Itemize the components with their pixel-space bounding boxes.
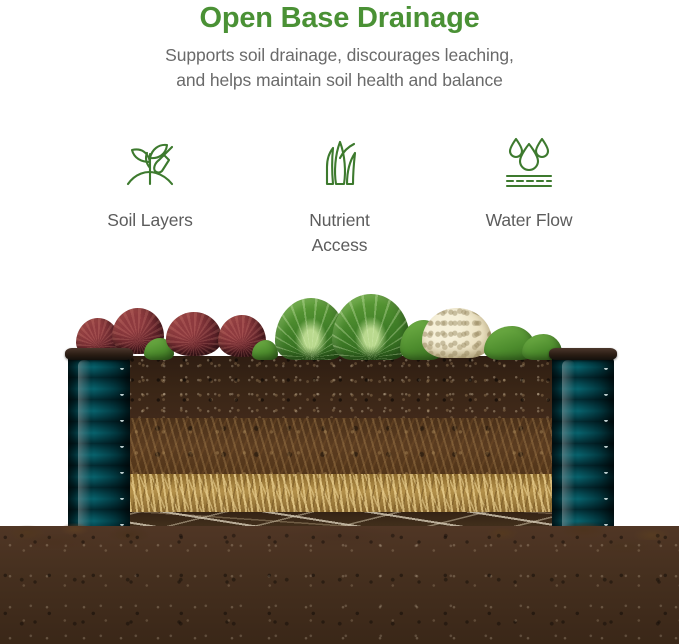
feature-soil-layers: Soil Layers xyxy=(60,128,240,258)
page-subtitle-line-2: and helps maintain soil health and balan… xyxy=(0,68,679,93)
feature-list: Soil Layers Nutrient Access xyxy=(60,128,619,258)
feature-water-flow: Water Flow xyxy=(439,128,619,258)
grass-blades-icon xyxy=(309,128,371,194)
surrounding-ground-soil xyxy=(0,526,679,644)
feature-nutrient-access: Nutrient Access xyxy=(250,128,430,258)
product-infographic: Open Base Drainage Supports soil drainag… xyxy=(0,0,679,644)
seedling-shovel-icon xyxy=(119,128,181,194)
soil-layer-straw xyxy=(118,474,558,512)
feature-water-flow-label: Water Flow xyxy=(486,208,573,233)
plant-row xyxy=(70,292,590,360)
post-rim-cap-left xyxy=(65,348,133,360)
soil-layer-compost xyxy=(118,418,558,474)
plant-bok-choy xyxy=(332,294,410,360)
page-title: Open Base Drainage xyxy=(0,0,679,35)
water-droplets-drainage-icon xyxy=(498,128,560,194)
page-subtitle-line-1: Supports soil drainage, discourages leac… xyxy=(165,45,514,65)
soil-layer-topsoil xyxy=(118,356,558,418)
feature-soil-layers-label: Soil Layers xyxy=(107,208,192,233)
raised-garden-bed-photo xyxy=(0,270,679,644)
feature-nutrient-access-label: Nutrient Access xyxy=(309,208,369,258)
post-rim-cap-right xyxy=(549,348,617,360)
plant-cauliflower xyxy=(422,308,492,358)
page-subtitle: Supports soil drainage, discourages leac… xyxy=(0,43,679,93)
plant-red-leaf-lettuce xyxy=(166,312,222,356)
